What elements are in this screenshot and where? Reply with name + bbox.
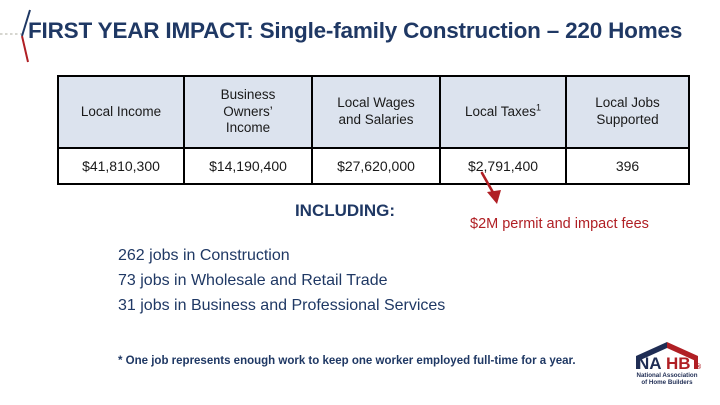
cell-local-wages-and-salaries: $27,620,000 <box>312 148 440 184</box>
header-line: Owners’ <box>223 104 273 119</box>
column-header-business-owners-income: Business Owners’ Income <box>184 76 312 148</box>
list-item: 262 jobs in Construction <box>118 243 578 268</box>
cell-local-jobs-supported: 396 <box>566 148 689 184</box>
logo-tagline-line1: National Association <box>637 372 698 379</box>
footnote-text: * One job represents enough work to keep… <box>118 355 576 367</box>
list-item: 73 jobs in Wholesale and Retail Trade <box>118 268 578 293</box>
header-line: Local Jobs <box>595 95 660 110</box>
list-item: 31 jobs in Business and Professional Ser… <box>118 293 578 318</box>
footnote-marker: 1 <box>536 102 541 112</box>
column-header-local-taxes: Local Taxes1 <box>440 76 566 148</box>
table-row: $41,810,300 $14,190,400 $27,620,000 $2,7… <box>58 148 689 184</box>
header-line: Local Taxes <box>465 104 536 119</box>
header-line: Business <box>221 87 276 102</box>
header-line: and Salaries <box>338 112 413 127</box>
header-line: Income <box>226 120 270 135</box>
cell-business-owners-income: $14,190,400 <box>184 148 312 184</box>
column-header-local-income: Local Income <box>58 76 184 148</box>
header-line: Supported <box>596 112 658 127</box>
logo-wordmark-dark: NA <box>637 354 662 373</box>
logo-tagline-line2: of Home Builders <box>641 379 693 384</box>
table-header-row: Local Income Business Owners’ Income Loc… <box>58 76 689 148</box>
including-heading: INCLUDING: <box>230 201 460 221</box>
jobs-breakdown-list: 262 jobs in Construction 73 jobs in Whol… <box>118 243 578 318</box>
column-header-local-wages-and-salaries: Local Wages and Salaries <box>312 76 440 148</box>
down-right-arrow-icon <box>470 168 520 210</box>
page-title: FIRST YEAR IMPACT: Single-family Constru… <box>28 18 708 44</box>
header-line: Local Income <box>81 104 161 119</box>
logo-wordmark-red: HB <box>666 354 691 373</box>
header-line: Local Wages <box>337 95 415 110</box>
impact-table: Local Income Business Owners’ Income Loc… <box>57 75 690 185</box>
logo-registered-mark: ® <box>696 363 702 371</box>
nahb-logo: NA HB ® National Association of Home Bui… <box>629 340 705 384</box>
cell-local-income: $41,810,300 <box>58 148 184 184</box>
callout-label: $2M permit and impact fees <box>470 216 649 232</box>
column-header-local-jobs-supported: Local Jobs Supported <box>566 76 689 148</box>
